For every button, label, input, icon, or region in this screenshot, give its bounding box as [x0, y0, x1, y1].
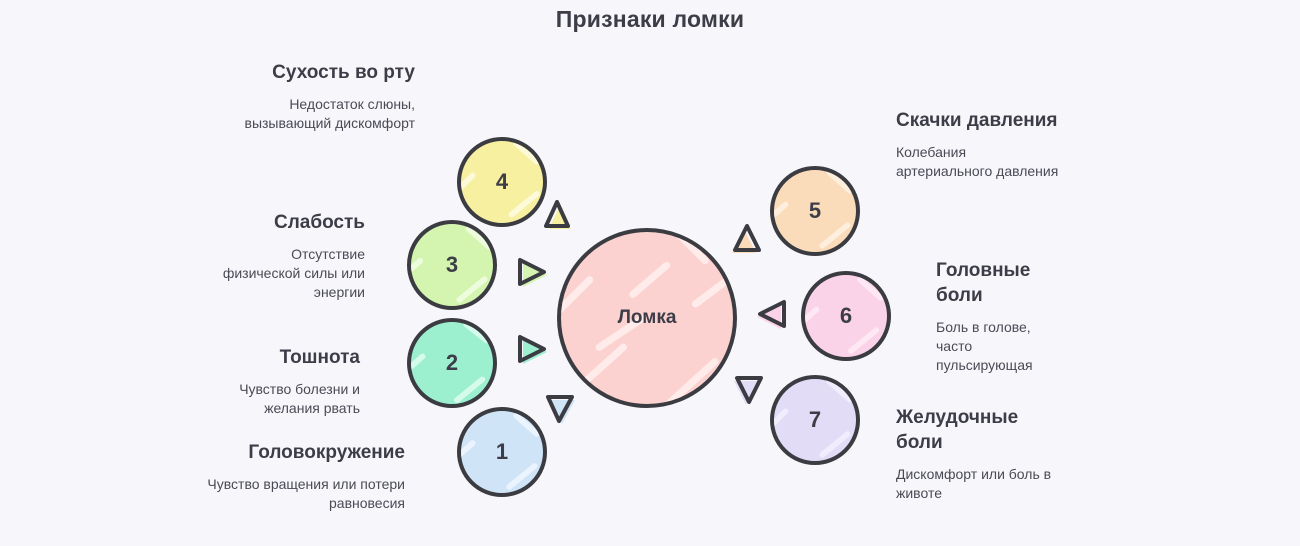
infographic-canvas: Признаки ломки Сухость во рту Недостаток… [0, 0, 1300, 546]
item-block-dry-mouth: Сухость во рту Недостаток слюны, вызываю… [235, 60, 415, 133]
item-heading: Головокружение [190, 440, 405, 465]
item-description: Чувство болезни и желания рвать [205, 380, 360, 418]
item-description: Отсутствие физической силы или энергии [220, 245, 365, 302]
bubble-number: 3 [446, 252, 458, 278]
item-heading: Головные боли [936, 258, 1061, 308]
item-description: Недостаток слюны, вызывающий дискомфорт [235, 95, 415, 133]
bubble-number: 5 [809, 198, 821, 224]
item-block-dizziness: Головокружение Чувство вращения или поте… [190, 440, 405, 513]
item-block-headache: Головные боли Боль в голове, часто пульс… [936, 258, 1061, 375]
bubble-number: 7 [809, 407, 821, 433]
item-description: Дискомфорт или боль в животе [896, 465, 1056, 503]
arrow-icon-6 [750, 292, 796, 338]
center-node-label: Ломка [618, 307, 677, 329]
arrow-icon-3 [508, 250, 554, 296]
item-description: Колебания артериального давления [896, 143, 1061, 181]
item-block-blood-pressure: Скачки давления Колебания артериального … [896, 108, 1061, 181]
item-description: Чувство вращения или потери равновесия [190, 475, 405, 513]
item-heading: Тошнота [205, 345, 360, 370]
item-heading: Слабость [220, 210, 365, 235]
item-description: Боль в голове, часто пульсирующая [936, 318, 1061, 375]
arrow-icon-2 [508, 327, 554, 373]
bubble-number: 4 [496, 169, 508, 195]
bubble-node-2[interactable]: 2 [407, 318, 497, 408]
bubble-number: 6 [840, 303, 852, 329]
bubble-node-6[interactable]: 6 [801, 271, 891, 361]
item-heading: Желудочные боли [896, 405, 1056, 455]
item-heading: Скачки давления [896, 108, 1061, 133]
arrow-icon-7 [727, 366, 773, 412]
bubble-node-1[interactable]: 1 [457, 407, 547, 497]
item-block-weakness: Слабость Отсутствие физической силы или … [220, 210, 365, 302]
bubble-number: 2 [446, 350, 458, 376]
center-node-withdrawal[interactable]: Ломка [557, 228, 737, 408]
item-block-stomach-pain: Желудочные боли Дискомфорт или боль в жи… [896, 405, 1056, 503]
bubble-node-3[interactable]: 3 [407, 220, 497, 310]
bubble-node-5[interactable]: 5 [770, 166, 860, 256]
item-block-nausea: Тошнота Чувство болезни и желания рвать [205, 345, 360, 418]
bubble-number: 1 [496, 439, 508, 465]
item-heading: Сухость во рту [235, 60, 415, 85]
bubble-node-4[interactable]: 4 [457, 137, 547, 227]
page-title: Признаки ломки [0, 6, 1300, 33]
bubble-node-7[interactable]: 7 [770, 375, 860, 465]
